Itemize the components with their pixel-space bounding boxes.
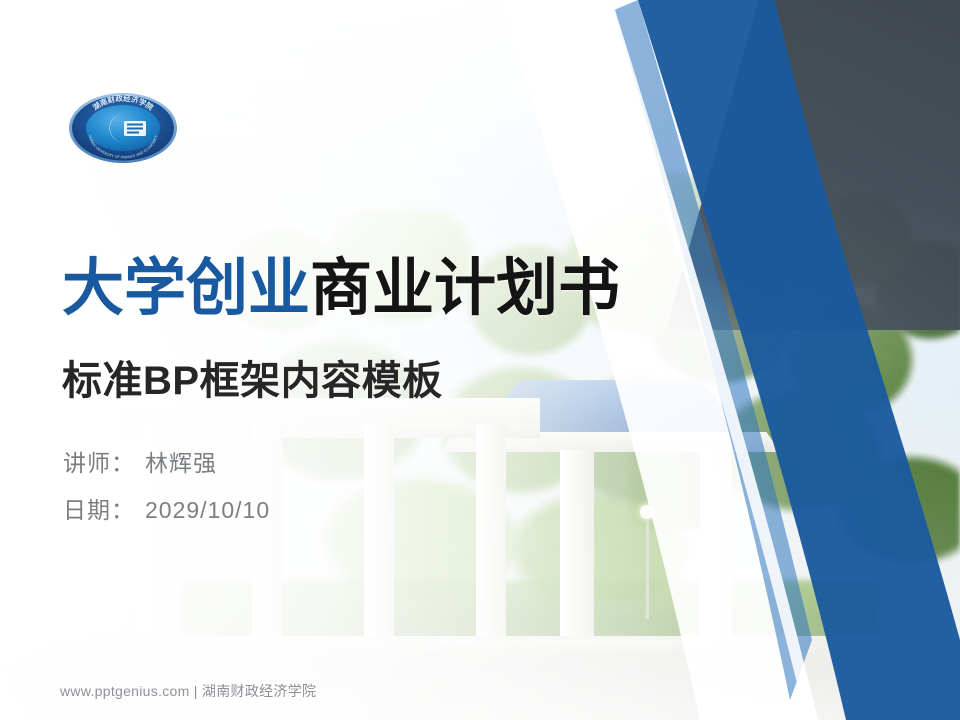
meta-value-presenter: 林辉强: [145, 450, 217, 476]
meta-row-presenter: 讲师：林辉强: [63, 444, 270, 478]
slide-title-highlight: 大学创业: [62, 254, 310, 323]
meta-label-presenter: 讲师：: [63, 450, 135, 476]
slide-subtitle: 标准BP框架内容模板: [62, 348, 443, 406]
presentation-title-slide: 湖南财政经济学院 HUNAN UNIVERSITY OF FINANCE AND…: [0, 0, 960, 720]
slide-title: 大学创业商业计划书: [62, 256, 620, 321]
university-seal-icon: 湖南财政经济学院 HUNAN UNIVERSITY OF FINANCE AND…: [68, 92, 178, 164]
seal-book-line: [127, 128, 143, 130]
slide-title-rest: 商业计划书: [310, 254, 620, 323]
meta-value-date: 2029/10/10: [145, 497, 270, 523]
slide-footer: www.pptgenius.com | 湖南财政经济学院: [60, 681, 316, 701]
meta-label-date: 日期：: [63, 497, 135, 523]
seal-inner-disc: [86, 105, 160, 151]
seal-book-line: [127, 124, 143, 126]
slide-meta-block: 讲师：林辉强 日期：2029/10/10: [63, 444, 270, 538]
seal-book-line: [127, 132, 139, 134]
meta-row-date: 日期：2029/10/10: [63, 491, 270, 525]
